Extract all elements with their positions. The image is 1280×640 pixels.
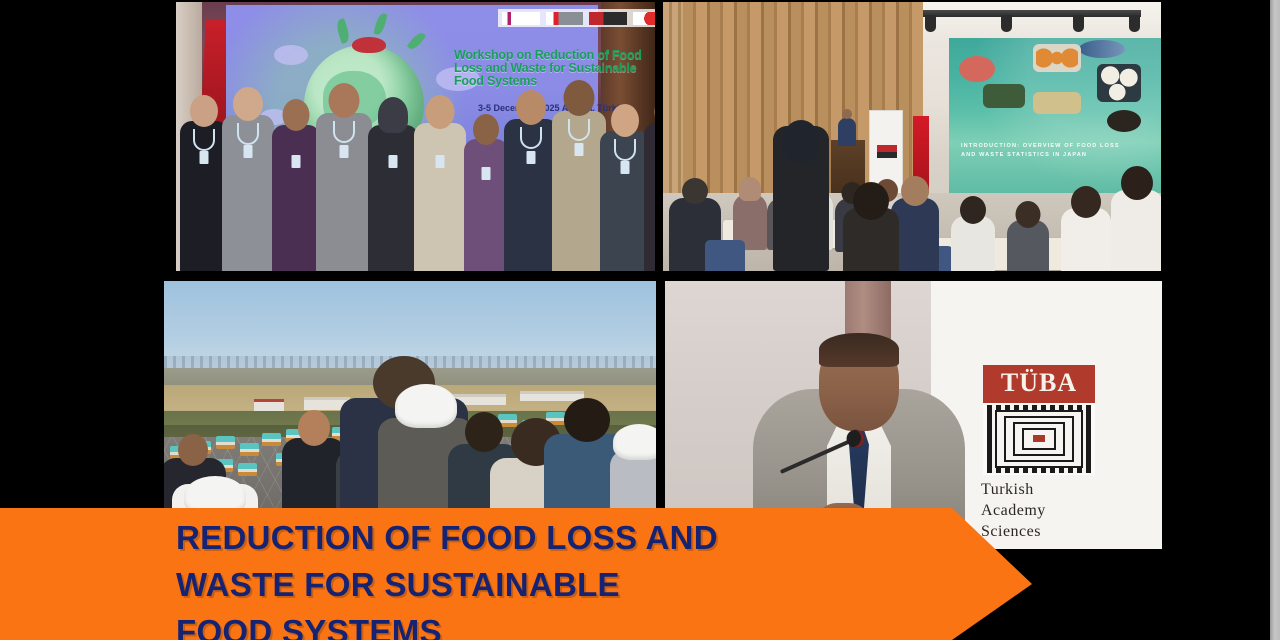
attendee-head — [1121, 166, 1153, 200]
scrollbar[interactable] — [1270, 0, 1280, 640]
attendee-head — [1071, 186, 1101, 218]
visitor-head — [178, 434, 208, 466]
participant-head — [516, 90, 546, 125]
attendee-head — [1016, 201, 1041, 228]
tuba-caption-line-1: Turkish — [981, 479, 1141, 500]
title-line-3: FOOD SYSTEMS — [176, 609, 996, 640]
speaker-hair — [819, 333, 899, 367]
sprout-icon — [335, 18, 352, 44]
participant — [644, 123, 655, 271]
sprout-icon — [407, 30, 426, 51]
participant-lanyard — [237, 123, 259, 145]
participant-badge — [575, 143, 584, 156]
attendee-head — [682, 178, 708, 204]
participant — [504, 119, 558, 271]
participant — [464, 139, 508, 271]
participant-badge — [200, 151, 209, 164]
chair — [705, 240, 745, 271]
tuba-caption-line-3: Sciences — [981, 521, 1141, 542]
participant-head — [329, 83, 360, 118]
participant-badge — [389, 155, 398, 168]
participant-head — [190, 95, 218, 127]
tuba-logo — [589, 12, 627, 25]
participant-lanyard — [614, 139, 636, 161]
title-line-2: WASTE FOR SUSTAINABLE — [176, 562, 996, 609]
audience-group — [663, 2, 1161, 271]
participant-head — [473, 114, 499, 145]
tuba-acronym: TÜBA — [983, 365, 1095, 403]
attendee — [1061, 208, 1111, 271]
ministry-logo — [502, 12, 540, 25]
title-line-1: REDUCTION OF FOOD LOSS AND — [176, 515, 996, 562]
participant — [552, 111, 606, 271]
participant-lanyard — [333, 121, 355, 143]
participant-badge — [340, 145, 349, 158]
attendee-head — [853, 182, 889, 220]
participant — [272, 125, 320, 271]
participant-badge — [244, 145, 253, 158]
attendee — [773, 126, 829, 271]
tuba-banner-caption: Turkish Academy Sciences — [981, 479, 1141, 542]
beehive — [262, 433, 281, 446]
sdg-logo — [546, 12, 584, 25]
participant-head — [283, 99, 310, 131]
visitor-head — [564, 398, 610, 442]
sponsor-logo-bar — [498, 9, 655, 27]
presentation-slide: Workshop on Reduction of Food Loss and W… — [0, 0, 1280, 640]
beehive — [240, 443, 259, 456]
attendee-head-hijab — [739, 177, 761, 201]
attendee-head — [901, 176, 929, 206]
attendee — [1111, 190, 1161, 271]
participant-head-hijab — [378, 97, 408, 133]
participant — [368, 125, 418, 271]
tuba-logo: TÜBA — [983, 365, 1095, 475]
participant-badge — [482, 167, 491, 180]
participant — [600, 131, 650, 271]
tuba-labyrinth-icon — [987, 405, 1091, 473]
attendee — [951, 216, 995, 271]
organization-logo — [633, 12, 656, 25]
participant — [316, 113, 372, 271]
tuba-caption-line-2: Academy — [981, 500, 1141, 521]
attendee-head — [782, 120, 820, 164]
visitor-head — [465, 412, 503, 452]
globe-cap-graphic — [352, 37, 386, 53]
attendee — [1007, 220, 1049, 271]
slide-title: REDUCTION OF FOOD LOSS AND WASTE FOR SUS… — [176, 515, 996, 640]
participant-badge — [436, 155, 445, 168]
participant-lanyard — [520, 127, 542, 149]
participant-head — [564, 80, 595, 116]
participant — [414, 123, 466, 271]
visitor-head — [298, 410, 330, 446]
hard-hat-icon — [395, 384, 457, 428]
participant-head — [655, 95, 656, 129]
participants-row — [176, 59, 655, 271]
participant-badge — [621, 161, 630, 174]
participant-head — [426, 95, 455, 129]
hard-hat-icon — [613, 424, 656, 460]
photo-group-participants: Workshop on Reduction of Food Loss and W… — [176, 2, 655, 271]
participant-lanyard — [193, 129, 215, 151]
participant-head — [233, 87, 263, 121]
participant — [180, 121, 228, 271]
field-building — [520, 391, 584, 401]
tuba-rollup-banner: TÜBA Turkish Academy Sciences — [931, 281, 1162, 549]
participant-lanyard — [568, 119, 590, 141]
labyrinth-core — [1033, 435, 1045, 442]
participant — [222, 115, 274, 271]
attendee-head — [960, 196, 986, 224]
beehive — [216, 436, 235, 449]
photo-conference-hall: Introduction: Overview of Food Loss and … — [663, 2, 1161, 271]
field-building — [254, 399, 284, 411]
participant-head — [611, 104, 639, 137]
sprout-icon — [373, 12, 387, 36]
attendee — [843, 208, 899, 271]
beehive — [238, 463, 257, 476]
participant-badge — [527, 151, 536, 164]
participant-badge — [292, 155, 301, 168]
